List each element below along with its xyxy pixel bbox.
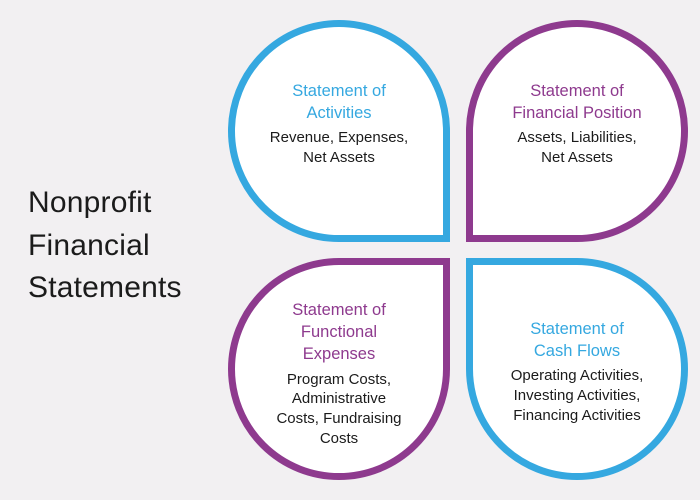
petal-heading: Statement of Cash Flows bbox=[530, 318, 624, 363]
petal-heading-line-1: Statement of bbox=[292, 299, 386, 321]
petal-heading: Statement of Functional Expenses bbox=[292, 299, 386, 366]
petal-body-line-3: Financing Activities bbox=[511, 406, 644, 426]
petal-body-line-2: Investing Activities, bbox=[511, 386, 644, 406]
diagram-canvas: Nonprofit Financial Statements Statement… bbox=[0, 0, 700, 500]
page-title-line-2: Financial bbox=[28, 225, 238, 268]
petal-cluster: Statement of Activities Revenue, Expense… bbox=[228, 20, 688, 480]
petal-heading-line-1: Statement of bbox=[292, 80, 386, 102]
petal-heading-line-1: Statement of bbox=[512, 80, 641, 102]
petal-body-line-2: Administrative bbox=[276, 389, 401, 409]
petal-body-line-3: Costs, Fundraising bbox=[276, 409, 401, 429]
petal-body: Revenue, Expenses, Net Assets bbox=[270, 128, 408, 168]
page-title-line-3: Statements bbox=[28, 267, 238, 310]
petal-body-line-1: Revenue, Expenses, bbox=[270, 128, 408, 148]
petal-heading-line-2: Financial Position bbox=[512, 102, 641, 124]
petal-body: Operating Activities, Investing Activiti… bbox=[511, 366, 644, 426]
petal-heading-line-1: Statement of bbox=[530, 318, 624, 340]
petal-statement-of-activities: Statement of Activities Revenue, Expense… bbox=[228, 20, 450, 242]
petal-heading-line-3: Expenses bbox=[292, 343, 386, 365]
petal-body-line-1: Assets, Liabilities, bbox=[517, 128, 636, 148]
petal-heading-line-2: Functional bbox=[292, 321, 386, 343]
page-title-line-1: Nonprofit bbox=[28, 182, 238, 225]
petal-body: Program Costs, Administrative Costs, Fun… bbox=[276, 370, 401, 450]
petal-body-line-4: Costs bbox=[276, 429, 401, 449]
petal-body-line-2: Net Assets bbox=[517, 148, 636, 168]
petal-heading: Statement of Activities bbox=[292, 80, 386, 125]
petal-body: Assets, Liabilities, Net Assets bbox=[517, 128, 636, 168]
petal-heading-line-2: Activities bbox=[292, 102, 386, 124]
petal-statement-of-functional-expenses: Statement of Functional Expenses Program… bbox=[228, 258, 450, 480]
petal-heading: Statement of Financial Position bbox=[512, 80, 641, 125]
petal-body-line-1: Operating Activities, bbox=[511, 366, 644, 386]
petal-statement-of-cash-flows: Statement of Cash Flows Operating Activi… bbox=[466, 258, 688, 480]
petal-statement-of-financial-position: Statement of Financial Position Assets, … bbox=[466, 20, 688, 242]
petal-heading-line-2: Cash Flows bbox=[530, 340, 624, 362]
petal-body-line-2: Net Assets bbox=[270, 148, 408, 168]
petal-body-line-1: Program Costs, bbox=[276, 370, 401, 390]
page-title: Nonprofit Financial Statements bbox=[28, 182, 238, 310]
